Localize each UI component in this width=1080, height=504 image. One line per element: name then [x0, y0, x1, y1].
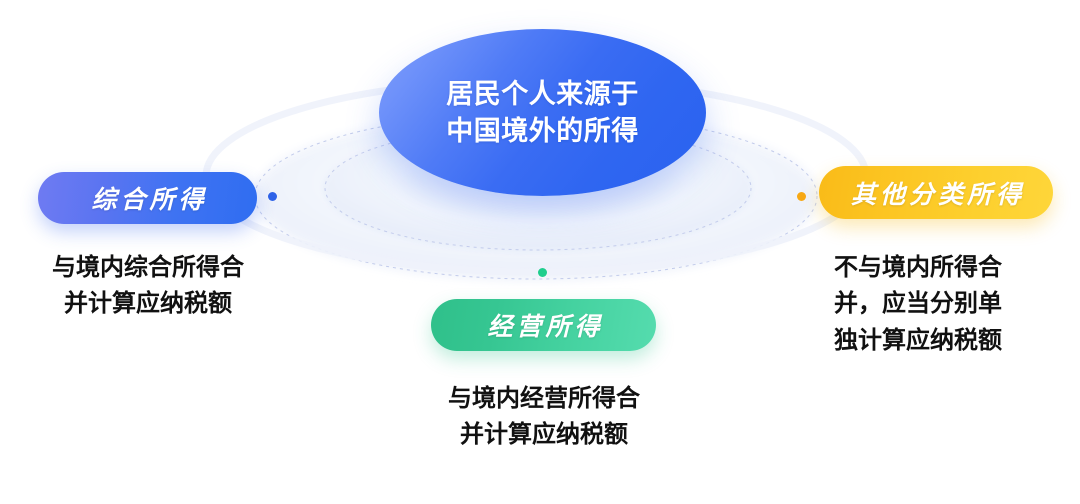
caption-other-categorized-income-line-3: 独计算应纳税额: [834, 323, 1064, 359]
caption-other-categorized-income-line-1: 不与境内所得合: [834, 250, 1064, 286]
center-ellipse-line-1: 居民个人来源于: [446, 76, 639, 112]
caption-comprehensive-income-line-2: 并计算应纳税额: [22, 286, 274, 322]
center-ellipse: 居民个人来源于 中国境外的所得: [379, 29, 706, 196]
pill-comprehensive-income[interactable]: 综合所得: [38, 172, 257, 224]
center-ellipse-text: 居民个人来源于 中国境外的所得: [446, 76, 639, 148]
pill-business-income[interactable]: 经营所得: [431, 299, 656, 351]
caption-business-income: 与境内经营所得合 并计算应纳税额: [418, 381, 670, 454]
caption-business-income-line-2: 并计算应纳税额: [418, 417, 670, 453]
connector-dot-comprehensive-income: [268, 192, 277, 201]
pill-label-comprehensive-income: 综合所得: [91, 180, 207, 216]
pill-label-business-income: 经营所得: [487, 307, 603, 343]
caption-comprehensive-income-line-1: 与境内综合所得合: [22, 250, 274, 286]
caption-comprehensive-income: 与境内综合所得合 并计算应纳税额: [22, 250, 274, 323]
center-ellipse-line-2: 中国境外的所得: [446, 113, 639, 149]
connector-dot-business-income: [538, 268, 547, 277]
caption-other-categorized-income: 不与境内所得合 并，应当分别单 独计算应纳税额: [834, 250, 1064, 359]
pill-label-other-categorized-income: 其他分类所得: [851, 175, 1025, 211]
infographic-canvas: 居民个人来源于 中国境外的所得 综合所得 与境内综合所得合 并计算应纳税额 其他…: [0, 0, 1080, 504]
caption-business-income-line-1: 与境内经营所得合: [418, 381, 670, 417]
connector-dot-other-categorized-income: [797, 192, 806, 201]
pill-other-categorized-income[interactable]: 其他分类所得: [819, 166, 1053, 219]
caption-other-categorized-income-line-2: 并，应当分别单: [834, 286, 1064, 322]
